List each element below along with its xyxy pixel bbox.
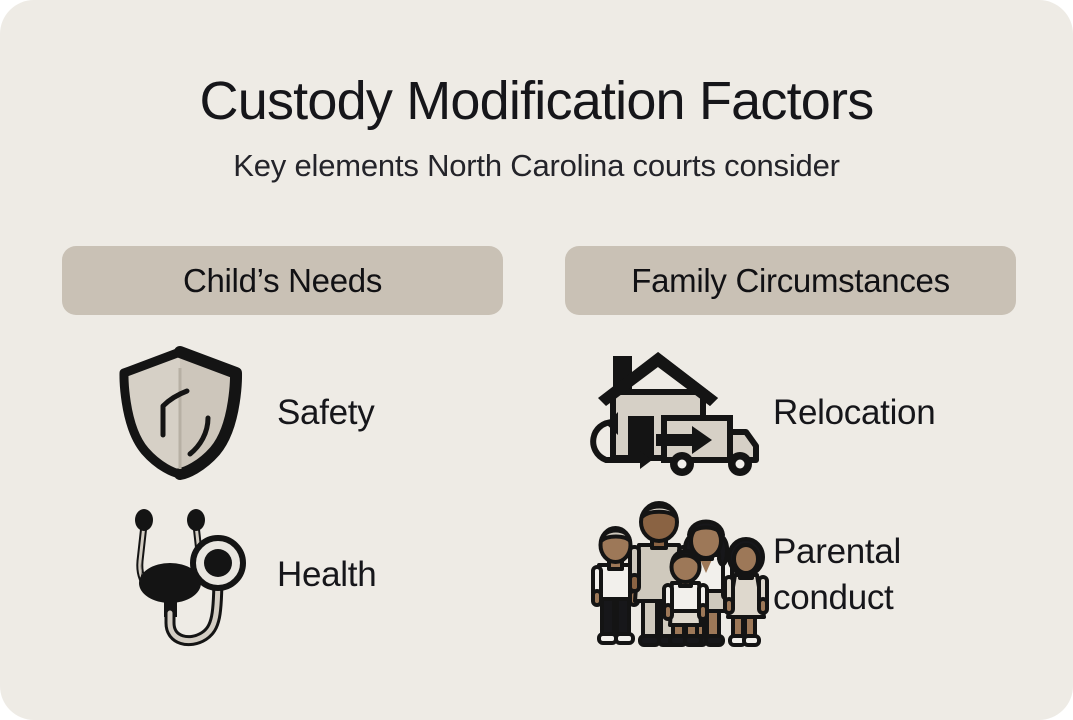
infographic-card: Custody Modification Factors Key element… xyxy=(0,0,1073,720)
factor-item-relocation: Relocation xyxy=(580,340,1040,485)
family-group-icon xyxy=(580,503,755,648)
column-header-label: Family Circumstances xyxy=(631,262,950,300)
factor-label: Relocation xyxy=(773,390,935,436)
shield-icon xyxy=(95,340,265,485)
stethoscope-icon xyxy=(95,503,265,648)
page-title: Custody Modification Factors xyxy=(0,68,1073,134)
house-moving-truck-icon xyxy=(580,340,755,485)
factor-label: Safety xyxy=(277,390,374,436)
factor-label: Health xyxy=(277,552,376,598)
factor-item-parental-conduct: Parental conduct xyxy=(580,500,1040,650)
column-header-label: Child’s Needs xyxy=(183,262,382,300)
column-header-childs-needs: Child’s Needs xyxy=(62,246,503,315)
column-header-family-circumstances: Family Circumstances xyxy=(565,246,1016,315)
factor-item-safety: Safety xyxy=(95,340,525,485)
factor-label: Parental conduct xyxy=(773,529,983,621)
factor-item-health: Health xyxy=(95,500,525,650)
page-subtitle: Key elements North Carolina courts consi… xyxy=(0,144,1073,188)
